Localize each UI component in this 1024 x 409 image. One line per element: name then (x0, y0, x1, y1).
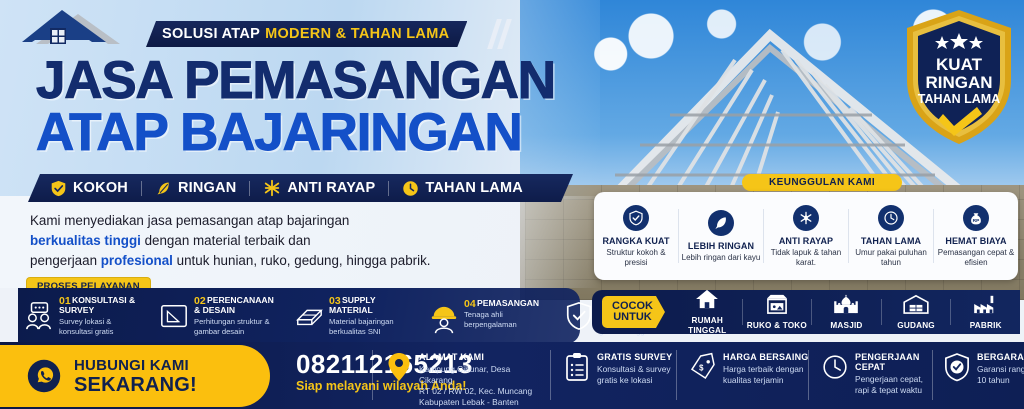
house-icon (695, 289, 719, 309)
desc-rest-1: dengan material terbaik dan (141, 233, 311, 248)
cocok-label: GUDANG (882, 321, 951, 331)
whatsapp-cta[interactable]: HUBUNGI KAMI SEKARANG! (0, 345, 270, 407)
whatsapp-icon[interactable] (26, 358, 62, 394)
process-step-3: 03 SUPPLY MATERIAL Material bajaringan b… (288, 296, 423, 336)
divider (141, 181, 142, 196)
slash-decor (492, 19, 522, 49)
description-text: Kami menyediakan jasa pemasangan atap ba… (30, 211, 490, 271)
step-number: 01 (59, 295, 71, 307)
info-sub2: rapi & tepat waktu (855, 385, 952, 396)
headline-line1: JASA PEMASANGAN (36, 56, 555, 106)
info-sub1: Garansi rangka hingga (977, 364, 1024, 375)
badge-line2: RINGAN (925, 73, 992, 92)
bug-cross-icon (798, 210, 814, 226)
clock-icon (402, 180, 419, 197)
whatsapp-line1: HUBUNGI KAMI (74, 357, 197, 374)
info-title: ALAMAT KAMI (419, 352, 546, 362)
feature-strip: KOKOH RINGAN ANTI RAYAP (28, 174, 573, 202)
keunggulan-item-rangka-kuat: RANGKA KUAT Struktur kokoh & presisi (594, 205, 678, 268)
description-line2: berkualitas tinggi dengan material terba… (30, 231, 490, 251)
cocok-item-pabrik: PABRIK (951, 294, 1020, 331)
process-panel: 01 KONSULTASI & SURVEY Survey lokasi & k… (18, 288, 580, 344)
icon-circle (623, 205, 649, 231)
cocok-tag-line2: UNTUK (612, 312, 653, 323)
keunggulan-sub: Pemasangan cepat & efisien (934, 248, 1018, 268)
info-sub2: 10 tahun (977, 375, 1024, 386)
desc-highlight-1: berkualitas tinggi (30, 233, 141, 248)
keunggulan-sub: Lebih ringan dari kayu (679, 253, 763, 263)
step-title: SUPPLY MATERIAL (329, 296, 415, 315)
keunggulan-sub: Struktur kokoh & presisi (594, 248, 678, 268)
feather-icon (155, 180, 172, 197)
info-sub2: RT 02 / RW 02, Kec. Muncang (419, 386, 546, 397)
info-sub3: Kabupaten Lebak - Banten (419, 397, 546, 408)
cocok-untuk-bar: COCOK UNTUK RUMAH TINGGAL RUKO & TOKO (592, 290, 1020, 334)
cocok-item-ruko-toko: RUKO & TOKO (743, 294, 812, 331)
whatsapp-line2: SEKARANG! (74, 374, 197, 396)
step-title: PERENCANAAN & DESAIN (194, 296, 280, 315)
cocok-item-gudang: GUDANG (882, 294, 951, 331)
divider (388, 181, 389, 196)
info-sub2: gratis ke lokasi (597, 375, 672, 386)
keunggulan-title: TAHAN LAMA (849, 236, 933, 246)
info-sub2: kualitas terjamin (723, 375, 808, 386)
badge-line1: KUAT (936, 55, 983, 74)
footer-info-harga-bersaing: $ HARGA BERSAING Harga terbaik dengan ku… (690, 352, 815, 386)
info-sub1: Kampung Cibunar, Desa Cikarang (419, 364, 546, 386)
desc-pre-2: pengerjaan (30, 253, 101, 268)
cocok-label: RUMAH TINGGAL (673, 316, 742, 335)
shield-check-icon (564, 301, 594, 331)
worker-helmet-icon (429, 304, 459, 334)
price-tag-icon: $ (690, 352, 716, 382)
keunggulan-item-tahan-lama: TAHAN LAMA Umur pakai puluhan tahun (849, 205, 933, 268)
keunggulan-sub: Umur pakai puluhan tahun (849, 248, 933, 268)
location-pin-icon (386, 352, 412, 382)
divider (372, 350, 373, 400)
process-step-2: 02 PERENCANAAN & DESAIN Perhitungan stru… (153, 296, 288, 336)
icon-circle (878, 205, 904, 231)
badge-line3: TAHAN LAMA (918, 92, 1000, 106)
shield-check-icon (50, 180, 67, 197)
feather-icon (713, 215, 729, 231)
cocok-item-masjid: MASJID (812, 294, 881, 331)
step-title: PEMASANGAN (464, 299, 550, 309)
footer-info-gratis-survey: GRATIS SURVEY Konsultasi & survey gratis… (564, 352, 684, 386)
feature-item-anti-rayap: ANTI RAYAP (263, 179, 375, 197)
tagline-ribbon: SOLUSI ATAP MODERN & TAHAN LAMA (146, 21, 467, 47)
keunggulan-card: RANGKA KUAT Struktur kokoh & presisi LEB… (594, 192, 1018, 280)
info-sub1: Harga terbaik dengan (723, 364, 808, 375)
info-title: PENGERJAAN CEPAT (855, 352, 952, 372)
clock-icon (883, 210, 899, 226)
keunggulan-title: RANGKA KUAT (594, 236, 678, 246)
feature-label: RINGAN (178, 180, 236, 196)
keunggulan-tab: KEUNGGULAN KAMI (742, 174, 902, 191)
factory-icon (973, 294, 999, 314)
step-sub: Survey lokasi & konsultasi gratis (59, 317, 147, 336)
step-number: 04 (464, 298, 476, 310)
icon-circle (708, 210, 734, 236)
divider (249, 181, 250, 196)
description-line1: Kami menyediakan jasa pemasangan atap ba… (30, 211, 490, 231)
headline-line2: ATAP BAJARINGAN (36, 108, 522, 158)
info-title: BERGARANSI (977, 352, 1024, 362)
step-title: KONSULTASI & SURVEY (59, 296, 145, 315)
promo-banner: SOLUSI ATAP MODERN & TAHAN LAMA JASA PEM… (0, 0, 1024, 409)
tagline-highlight: MODERN & TAHAN LAMA (265, 26, 449, 42)
feature-label: ANTI RAYAP (287, 180, 375, 196)
svg-text:$: $ (699, 363, 704, 372)
cocok-label: MASJID (812, 321, 881, 331)
info-sub1: Konsultasi & survey (597, 364, 672, 375)
step-number: 02 (194, 295, 206, 307)
process-step-1: 01 KONSULTASI & SURVEY Survey lokasi & k… (18, 296, 153, 336)
info-sub1: Pengerjaan cepat, (855, 374, 952, 385)
feature-label: TAHAN LAMA (425, 180, 523, 196)
keunggulan-title: ANTI RAYAP (764, 236, 848, 246)
step-sub: Material bajaringan berkualitas SNI (329, 317, 417, 336)
clock-icon (822, 352, 848, 382)
description-line3: pengerjaan profesional untuk hunian, ruk… (30, 251, 490, 271)
info-title: GRATIS SURVEY (597, 352, 672, 362)
icon-circle (793, 205, 819, 231)
desc-rest-2: untuk hunian, ruko, gedung, hingga pabri… (173, 253, 431, 268)
step-sub: Perhitungan struktur & gambar desain (194, 317, 282, 336)
keunggulan-title: HEMAT BIAYA (934, 236, 1018, 246)
info-title: HARGA BERSAING (723, 352, 808, 362)
footer-info-alamat: ALAMAT KAMI Kampung Cibunar, Desa Cikara… (386, 352, 546, 408)
icon-circle: RP (963, 205, 989, 231)
people-chat-icon (24, 301, 54, 331)
feature-item-tahan-lama: TAHAN LAMA (402, 180, 523, 197)
shield-check-icon (944, 352, 970, 382)
divider (550, 350, 551, 400)
termite-cross-icon (263, 179, 281, 197)
shop-icon (765, 294, 789, 314)
divider (808, 350, 809, 400)
keunggulan-tab-label: KEUNGGULAN KAMI (769, 177, 875, 188)
shield-check-icon (628, 210, 644, 226)
footer-info-bergaransi: BERGARANSI Garansi rangka hingga 10 tahu… (944, 352, 1024, 386)
desc-highlight-2: profesional (101, 253, 173, 268)
clipboard-icon (564, 352, 590, 382)
divider (676, 350, 677, 400)
money-bag-icon: RP (968, 210, 984, 226)
keunggulan-item-lebih-ringan: LEBIH RINGAN Lebih ringan dari kayu (679, 210, 763, 263)
keunggulan-item-anti-rayap: ANTI RAYAP Tidak lapuk & tahan karat. (764, 205, 848, 268)
keunggulan-sub: Tidak lapuk & tahan karat. (764, 248, 848, 268)
step-sub: Tenaga ahli berpengalaman (464, 310, 552, 329)
svg-text:RP: RP (973, 218, 980, 224)
feature-label: KOKOH (73, 180, 128, 196)
cocok-label: RUKO & TOKO (743, 321, 812, 331)
blueprint-icon (159, 301, 189, 331)
divider (932, 350, 933, 400)
feature-item-kokoh: KOKOH (50, 180, 128, 197)
feature-item-ringan: RINGAN (155, 180, 236, 197)
warehouse-icon (903, 294, 929, 314)
tagline-plain: SOLUSI ATAP (162, 26, 260, 42)
process-step-4: 04 PEMASANGAN Tenaga ahli berpengalaman (423, 299, 558, 334)
cocok-label: PABRIK (951, 321, 1020, 331)
cocok-untuk-tag: COCOK UNTUK (602, 296, 665, 328)
mosque-icon (833, 294, 859, 314)
quality-badge: KUAT RINGAN TAHAN LAMA (903, 8, 1015, 148)
keunggulan-item-hemat-biaya: RP HEMAT BIAYA Pemasangan cepat & efisie… (934, 205, 1018, 268)
steel-beam-icon (294, 301, 324, 331)
whatsapp-cta-text[interactable]: HUBUNGI KAMI SEKARANG! (74, 357, 197, 396)
keunggulan-title: LEBIH RINGAN (679, 241, 763, 251)
cocok-item-rumah-tinggal: RUMAH TINGGAL (673, 289, 742, 335)
step-number: 03 (329, 295, 341, 307)
